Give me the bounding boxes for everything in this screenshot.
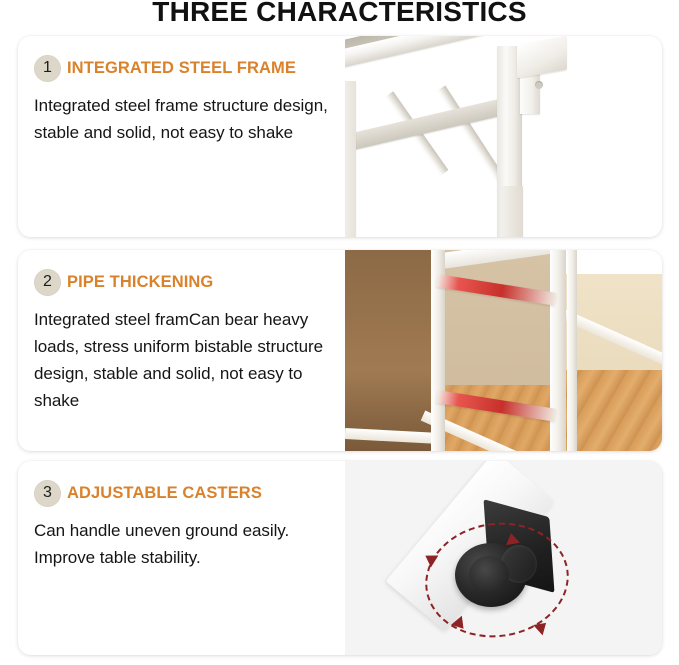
step-number-badge: 3 (34, 480, 61, 507)
caster-hub (469, 556, 509, 594)
card-text-block: 3 ADJUSTABLE CASTERS Can handle uneven g… (18, 461, 345, 655)
step-number-badge: 2 (34, 269, 61, 296)
card-header: 2 PIPE THICKENING (34, 268, 329, 296)
card-header: 3 ADJUSTABLE CASTERS (34, 479, 329, 507)
card-heading: INTEGRATED STEEL FRAME (67, 59, 296, 78)
frame-leg-left (345, 81, 356, 237)
card-body-text: Integrated steel framCan bear heavy load… (34, 306, 329, 414)
steel-frame-photo (345, 36, 662, 237)
table-leg (567, 250, 577, 451)
card-heading: ADJUSTABLE CASTERS (67, 484, 262, 503)
characteristic-card: 2 PIPE THICKENING Integrated steel framC… (18, 250, 662, 451)
frame-bolt-icon (535, 81, 543, 89)
frame-leg-right (503, 186, 523, 237)
card-text-block: 2 PIPE THICKENING Integrated steel framC… (18, 250, 345, 451)
room-panel-top (563, 250, 662, 274)
page-title: THREE CHARACTERISTICS (0, 0, 679, 29)
characteristic-card: 3 ADJUSTABLE CASTERS Can handle uneven g… (18, 461, 662, 655)
infographic-page: THREE CHARACTERISTICS 1 INTEGRATED STEEL… (0, 0, 679, 665)
pipe-thickening-photo (345, 250, 662, 451)
frame-post-cap (517, 36, 567, 78)
characteristic-card: 1 INTEGRATED STEEL FRAME Integrated stee… (18, 36, 662, 237)
card-body-text: Integrated steel frame structure design,… (34, 92, 329, 146)
card-heading: PIPE THICKENING (67, 273, 213, 292)
card-text-block: 1 INTEGRATED STEEL FRAME Integrated stee… (18, 36, 345, 237)
card-header: 1 INTEGRATED STEEL FRAME (34, 54, 329, 82)
card-body-text: Can handle uneven ground easily. Improve… (34, 517, 329, 571)
step-number-badge: 1 (34, 55, 61, 82)
adjustable-caster-photo (345, 461, 662, 655)
